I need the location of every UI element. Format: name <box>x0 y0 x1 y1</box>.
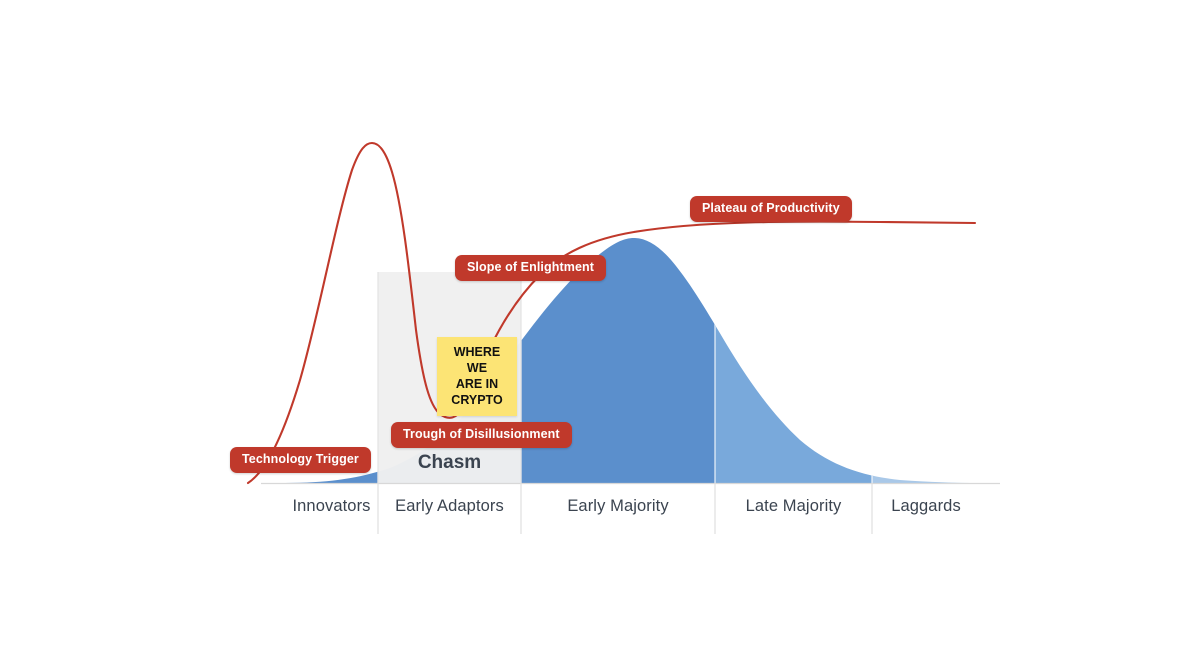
bell-band-laggards <box>872 150 981 490</box>
badge-technology-trigger[interactable]: Technology Trigger <box>230 447 371 473</box>
hype-cycle-diagram: Chasm Innovators Early Adaptors Early Ma… <box>0 0 1199 671</box>
badge-slope-of-enlightenment[interactable]: Slope of Enlightment <box>455 255 606 281</box>
sticky-note-where-we-are-in-crypto[interactable]: WHERE WE ARE IN CRYPTO <box>437 337 517 416</box>
badge-trough-of-disillusionment[interactable]: Trough of Disillusionment <box>391 422 572 448</box>
chasm-label: Chasm <box>378 452 521 474</box>
chart-canvas <box>0 0 1199 671</box>
segment-label-laggards: Laggards <box>872 497 980 516</box>
segment-label-early-adaptors: Early Adaptors <box>378 497 521 516</box>
segment-label-innovators: Innovators <box>285 497 378 516</box>
bell-band-innovators <box>285 150 379 490</box>
segment-label-early-majority: Early Majority <box>521 497 715 516</box>
segment-label-late-majority: Late Majority <box>715 497 872 516</box>
badge-plateau-of-productivity[interactable]: Plateau of Productivity <box>690 196 852 222</box>
